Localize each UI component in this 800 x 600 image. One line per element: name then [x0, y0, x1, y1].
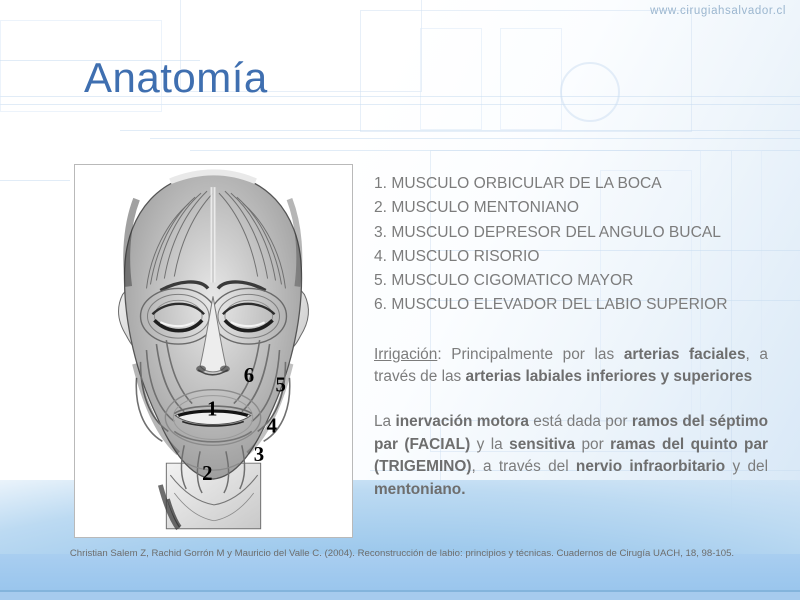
inervacion-bold-1: inervación motora [395, 413, 528, 430]
figure-label-1: 1 [207, 397, 217, 421]
inervacion-text-5: , a través del [471, 458, 575, 475]
inervacion-bold-3: sensitiva [509, 436, 575, 453]
irrigacion-bold-1: arterias faciales [624, 346, 746, 363]
irrigacion-text-1: Principalmente por las [442, 346, 624, 363]
page-title: Anatomía [84, 57, 268, 99]
citation: Christian Salem Z, Rachid Gorrón M y Mau… [62, 547, 742, 561]
figure-label-4: 4 [267, 413, 278, 437]
inervacion-bold-5: nervio infraorbitario [576, 458, 725, 475]
anatomy-figure: 1 2 3 4 5 6 [74, 164, 353, 538]
facial-musculature-illustration: 1 2 3 4 5 6 [75, 165, 352, 537]
site-url: www.cirugiahsalvador.cl [650, 5, 786, 17]
figure-label-5: 5 [276, 373, 286, 397]
irrigacion-label: Irrigación [374, 346, 437, 363]
figure-label-6: 6 [244, 363, 254, 387]
figure-label-2: 2 [202, 461, 212, 485]
muscle-list: 1. MUSCULO ORBICULAR DE LA BOCA 2. MUSCU… [374, 172, 768, 318]
list-item: 1. MUSCULO ORBICULAR DE LA BOCA [374, 172, 768, 196]
inervacion-text-1: La [374, 413, 395, 430]
content-column: 1. MUSCULO ORBICULAR DE LA BOCA 2. MUSCU… [374, 172, 768, 501]
inervacion-text-6: y del [725, 458, 768, 475]
list-item: 2. MUSCULO MENTONIANO [374, 196, 768, 220]
paragraph-irrigacion: Irrigación: Principalmente por las arter… [374, 344, 768, 389]
paragraph-inervacion: La inervación motora está dada por ramos… [374, 411, 768, 501]
bottom-band-foot [0, 592, 800, 600]
list-item: 3. MUSCULO DEPRESOR DEL ANGULO BUCAL [374, 221, 768, 245]
list-item: 4. MUSCULO RISORIO [374, 245, 768, 269]
inervacion-text-4: por [575, 436, 610, 453]
inervacion-text-2: está dada por [529, 413, 632, 430]
inervacion-bold-6: mentoniano. [374, 481, 466, 498]
list-item: 5. MUSCULO CIGOMATICO MAYOR [374, 269, 768, 293]
figure-label-3: 3 [254, 442, 264, 466]
inervacion-text-3: y la [470, 436, 509, 453]
irrigacion-bold-2: arterias labiales inferiores y superiore… [466, 368, 753, 385]
presentation-slide: www.cirugiahsalvador.cl Anatomía [0, 0, 800, 600]
list-item: 6. MUSCULO ELEVADOR DEL LABIO SUPERIOR [374, 293, 768, 317]
